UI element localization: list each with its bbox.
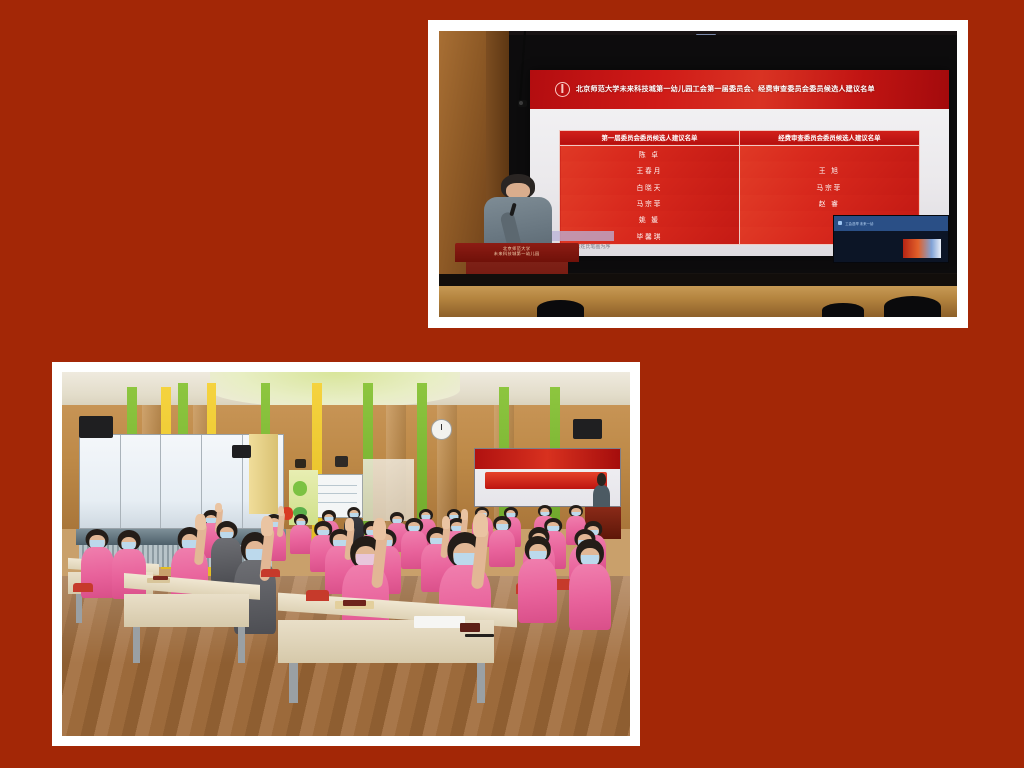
pen [465,634,493,637]
window-pane [121,435,162,528]
chair [306,590,329,601]
meeting-room-photo-frame [52,362,640,746]
audience-silhouette [884,296,941,317]
stage-shadow-band [439,274,957,285]
podium-line-2: 未来科技城第一幼儿园 [494,252,540,257]
table-cell: 马宗菲 [560,195,740,211]
desk-leg [76,594,82,623]
table-row: 马宗菲 赵 睿 [560,195,920,211]
attendee [516,536,559,623]
chair [261,569,280,578]
auditorium-photo-frame: 北京师范大学未来科技城第一幼儿园工会第一届委员会、经费审查委员会委员候选人建议名… [428,20,968,328]
ceiling-speaker-icon [335,456,349,467]
union-emblem-icon [555,82,570,97]
curtain [249,434,277,514]
desk-leg [477,663,486,703]
table-cell: 赵 睿 [739,195,919,211]
meeting-room-photo [62,372,630,736]
wall-clock-icon [431,419,452,439]
desk-front [124,594,249,627]
table-cell: 王 旭 [739,162,919,178]
slide-canvas: 北京师范大学未来科技城第一幼儿园工会第一届委员会、经费审查委员会委员候选人建议名… [0,0,1024,768]
desk-leg [289,663,298,703]
projected-slide-title-band: 北京师范大学未来科技城第一幼儿园工会第一届委员会、经费审查委员会委员候选人建议名… [530,70,950,109]
table-cell: 白晓天 [560,178,740,194]
side-monitor: 工会选举 未来一幼 [833,215,949,263]
table-row: 王春月 王 旭 [560,162,920,178]
phone [343,600,366,606]
phone [460,623,480,632]
table-cell: 王春月 [560,162,740,178]
far-screen-title-band [475,449,621,468]
slide-selection-highlight [546,231,613,240]
decor-dot [293,481,308,496]
far-screen-content [485,472,607,489]
podium-nameplate: 北京师范大学 未来科技城第一幼儿园 [455,243,579,262]
desk-leg [238,627,245,663]
desk-leg [133,627,140,663]
window-pane [80,435,121,528]
phone [153,576,168,580]
table-header-cell: 第一届委员会委员候选人建议名单 [560,130,740,145]
ceiling-camera-icon [518,100,527,107]
table-cell: 陈 卓 [560,145,740,162]
table-row: 白晓天 马宗菲 [560,178,920,194]
stage-floor [439,286,957,317]
table-cell: 姚 媛 [560,211,740,227]
table-row: 陈 卓 [560,145,920,162]
ceiling-speaker-icon [295,459,306,468]
ceiling-speaker-icon [79,416,113,438]
table-header-cell: 经费审查委员会委员候选人建议名单 [739,130,919,145]
ceiling-speaker-icon [232,445,250,458]
chair [73,583,92,592]
audience-silhouette [537,300,584,317]
window-pane [161,435,202,528]
table-cell: 马宗菲 [739,178,919,194]
projected-slide-title: 北京师范大学未来科技城第一幼儿园工会第一届委员会、经费审查委员会委员候选人建议名… [576,84,875,94]
attendee [568,539,613,630]
side-monitor-text: 工会选举 未来一幼 [845,221,873,226]
side-monitor-titlebar: 工会选举 未来一幼 [834,216,948,231]
table-header-row: 第一届委员会委员候选人建议名单 经费审查委员会委员候选人建议名单 [560,130,920,145]
table-cell [739,145,919,162]
window-icon [838,221,842,225]
audience-silhouette [822,303,863,317]
auditorium-photo: 北京师范大学未来科技城第一幼儿园工会第一届委员会、经费审查委员会委员候选人建议名… [439,31,957,317]
ceiling-speaker-icon [573,419,601,439]
paper-sheet [414,616,465,628]
side-monitor-thumbnail [903,239,942,258]
